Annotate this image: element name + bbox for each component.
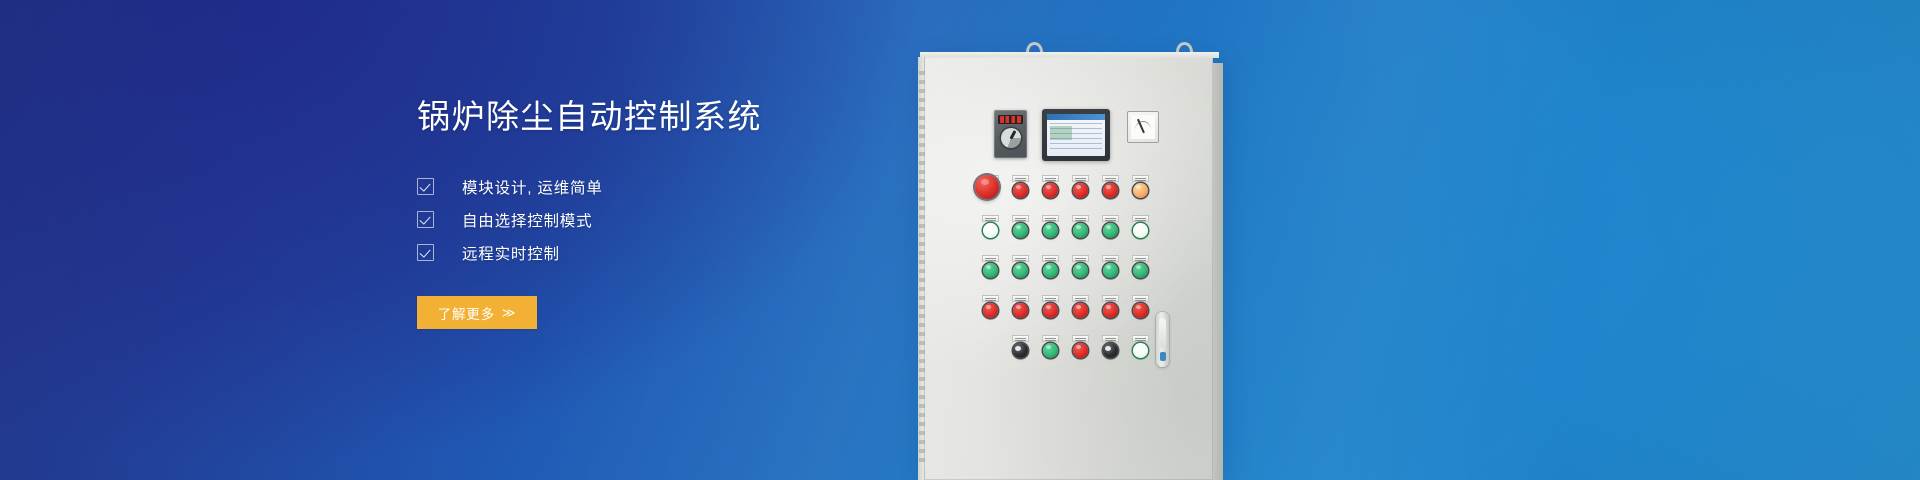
meter-face — [1131, 115, 1155, 139]
hmi-title-bar — [1047, 114, 1105, 120]
indicator-button — [975, 295, 1005, 318]
indicator-button — [1005, 215, 1035, 238]
timer-display — [998, 115, 1023, 124]
indicator-button — [1095, 255, 1125, 278]
indicator-button — [1065, 215, 1095, 238]
indicator-lamp-green — [1133, 263, 1148, 278]
product-image — [900, 0, 1320, 480]
indicator-button — [1005, 295, 1035, 318]
cabinet-door-handle — [1156, 312, 1169, 367]
indicator-label-plate — [1072, 335, 1089, 342]
indicator-lamp-white — [983, 223, 998, 238]
indicator-label-plate — [982, 295, 999, 302]
indicator-label-plate — [1042, 295, 1059, 302]
indicator-lamp-green — [1073, 263, 1088, 278]
handle-lock-icon — [1160, 352, 1166, 361]
feature-label: 模块设计, 运维简单 — [462, 176, 603, 198]
indicator-lamp-green — [1043, 343, 1058, 358]
indicator-label-plate — [1072, 215, 1089, 222]
indicator-button — [1095, 175, 1125, 198]
checkbox-check-icon — [417, 178, 434, 195]
indicator-lamp-amber — [1133, 183, 1148, 198]
indicator-label-plate — [1132, 255, 1149, 262]
hmi-screen — [1047, 114, 1105, 156]
indicator-button — [1065, 255, 1095, 278]
indicator-button — [1125, 175, 1155, 198]
indicator-lamp-black — [1013, 343, 1028, 358]
indicator-label-plate — [1132, 335, 1149, 342]
indicator-button-row — [975, 175, 1155, 198]
learn-more-button[interactable]: 了解更多 ≫ — [417, 296, 537, 329]
indicator-label-plate — [1102, 295, 1119, 302]
indicator-label-plate — [1042, 175, 1059, 182]
indicator-lamp-green — [1043, 223, 1058, 238]
indicator-label-plate — [1042, 215, 1059, 222]
indicator-button — [1095, 335, 1125, 358]
indicator-lamp-red — [1103, 303, 1118, 318]
indicator-button — [1035, 175, 1065, 198]
indicator-button — [1035, 295, 1065, 318]
indicator-button-row — [975, 295, 1155, 318]
indicator-lamp-green — [1043, 263, 1058, 278]
indicator-button — [1125, 255, 1155, 278]
indicator-label-plate — [1042, 335, 1059, 342]
indicator-button — [975, 255, 1005, 278]
indicator-button — [1005, 175, 1035, 198]
checkbox-check-icon — [417, 211, 434, 228]
indicator-button — [1125, 215, 1155, 238]
digital-timer-module — [994, 110, 1027, 158]
rotary-dial-icon — [1001, 128, 1021, 148]
timer-digits — [1000, 116, 1021, 123]
checkbox-check-icon — [417, 244, 434, 261]
indicator-button-row — [1005, 335, 1155, 358]
indicator-lamp-red — [1013, 303, 1028, 318]
indicator-label-plate — [1012, 335, 1029, 342]
indicator-label-plate — [1132, 215, 1149, 222]
indicator-button — [1095, 295, 1125, 318]
handle-grip — [1159, 318, 1166, 348]
feature-label: 自由选择控制模式 — [462, 209, 592, 231]
indicator-label-plate — [1012, 295, 1029, 302]
indicator-button — [1125, 295, 1155, 318]
indicator-lamp-green — [983, 263, 998, 278]
feature-list: 模块设计, 运维简单 自由选择控制模式 远程实时控制 — [417, 170, 977, 269]
control-cabinet — [918, 57, 1213, 480]
hmi-touchscreen — [1042, 109, 1110, 161]
indicator-button — [1005, 255, 1035, 278]
cabinet-side-panel — [1213, 63, 1223, 480]
indicator-button — [1065, 335, 1095, 358]
indicator-lamp-red — [983, 303, 998, 318]
indicator-lamp-green — [1103, 263, 1118, 278]
indicator-lamp-red — [1133, 303, 1148, 318]
indicator-label-plate — [1072, 175, 1089, 182]
indicator-button — [1005, 335, 1035, 358]
indicator-label-plate — [982, 255, 999, 262]
indicator-button — [1095, 215, 1125, 238]
indicator-button — [1065, 175, 1095, 198]
indicator-lamp-red — [1103, 183, 1118, 198]
indicator-button-grid — [975, 175, 1155, 375]
indicator-lamp-red — [1073, 343, 1088, 358]
indicator-lamp-green — [1013, 223, 1028, 238]
indicator-button — [1035, 335, 1065, 358]
indicator-lamp-white — [1133, 223, 1148, 238]
indicator-button — [1035, 255, 1065, 278]
hero-banner: 锅炉除尘自动控制系统 模块设计, 运维简单 自由选择控制模式 远程实时控制 了解… — [0, 0, 1920, 480]
indicator-label-plate — [1132, 175, 1149, 182]
hmi-data-rows — [1050, 123, 1102, 153]
cabinet-top-edge — [920, 52, 1219, 58]
indicator-lamp-red — [1013, 183, 1028, 198]
indicator-label-plate — [1072, 295, 1089, 302]
indicator-lamp-green — [1073, 223, 1088, 238]
feature-item-2: 自由选择控制模式 — [417, 203, 977, 236]
indicator-label-plate — [1012, 255, 1029, 262]
hinge-teeth — [919, 71, 925, 467]
indicator-button — [975, 215, 1005, 238]
indicator-lamp-white — [1133, 343, 1148, 358]
indicator-button-row — [975, 215, 1155, 238]
indicator-label-plate — [1072, 255, 1089, 262]
indicator-label-plate — [1042, 255, 1059, 262]
analog-meter — [1127, 111, 1159, 143]
indicator-lamp-green — [1013, 263, 1028, 278]
chevron-right-icon: ≫ — [502, 305, 516, 321]
emergency-stop-button — [975, 175, 999, 199]
indicator-label-plate — [982, 215, 999, 222]
indicator-button — [1035, 215, 1065, 238]
indicator-label-plate — [1102, 215, 1119, 222]
indicator-button-row — [975, 255, 1155, 278]
indicator-label-plate — [1012, 175, 1029, 182]
indicator-lamp-red — [1043, 303, 1058, 318]
feature-item-3: 远程实时控制 — [417, 236, 977, 269]
indicator-lamp-red — [1043, 183, 1058, 198]
indicator-label-plate — [1012, 215, 1029, 222]
learn-more-label: 了解更多 — [438, 303, 495, 323]
banner-content: 锅炉除尘自动控制系统 模块设计, 运维简单 自由选择控制模式 远程实时控制 了解… — [417, 96, 977, 329]
indicator-label-plate — [1102, 175, 1119, 182]
cabinet-hinge-strip — [918, 57, 925, 480]
indicator-lamp-red — [1073, 183, 1088, 198]
indicator-button — [1125, 335, 1155, 358]
indicator-label-plate — [1102, 335, 1119, 342]
page-title: 锅炉除尘自动控制系统 — [417, 96, 977, 138]
indicator-label-plate — [1132, 295, 1149, 302]
feature-label: 远程实时控制 — [462, 242, 560, 264]
indicator-button — [1065, 295, 1095, 318]
indicator-label-plate — [1102, 255, 1119, 262]
indicator-lamp-red — [1073, 303, 1088, 318]
indicator-lamp-black — [1103, 343, 1118, 358]
feature-item-1: 模块设计, 运维简单 — [417, 170, 977, 203]
indicator-lamp-green — [1103, 223, 1118, 238]
